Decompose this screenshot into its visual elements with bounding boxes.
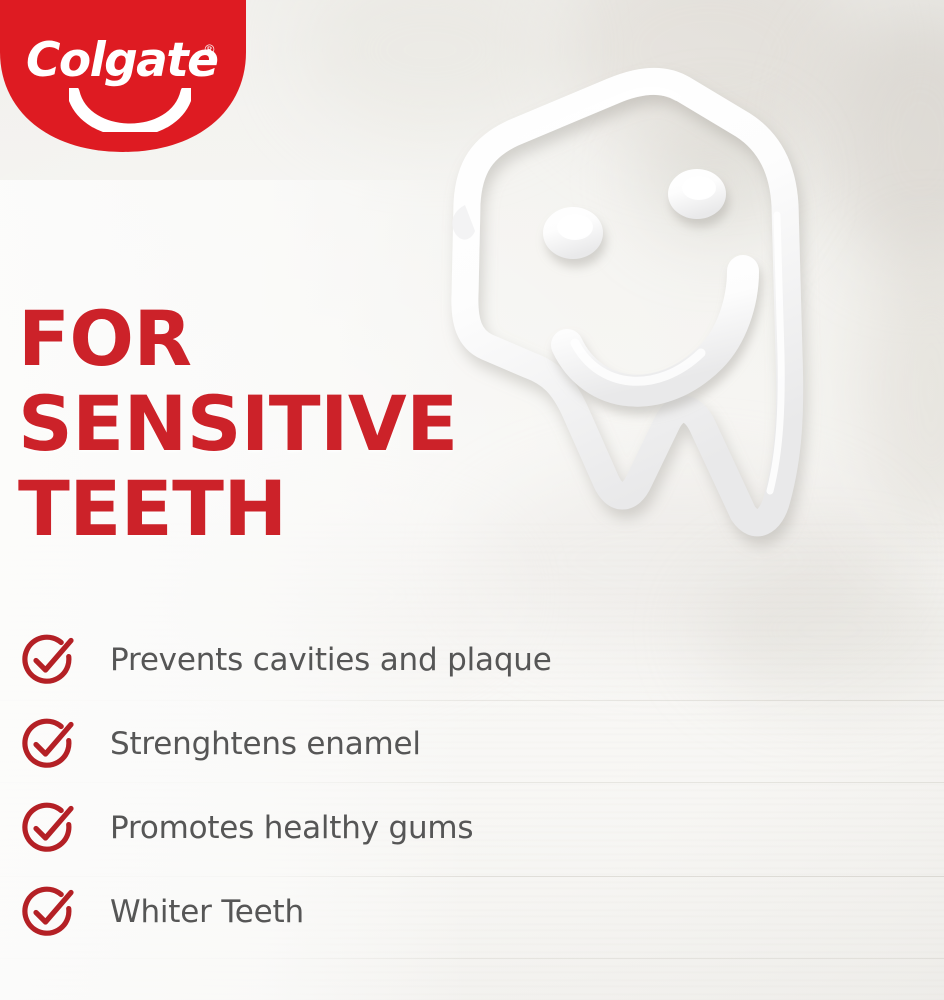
benefit-label: Promotes healthy gums xyxy=(110,811,672,845)
headline-line-2: SENSITIVE xyxy=(18,381,488,466)
benefit-label: Strenghtens enamel xyxy=(110,727,672,761)
headline-line-3: TEETH xyxy=(18,466,488,551)
benefits-list: Prevents cavities and plaque Strenghtens… xyxy=(12,618,672,954)
registered-trademark-icon: ® xyxy=(203,44,216,57)
circle-check-icon xyxy=(18,798,78,858)
circle-check-icon xyxy=(18,630,78,690)
circle-check-icon xyxy=(18,882,78,942)
benefit-label: Prevents cavities and plaque xyxy=(110,643,672,677)
list-item: Whiter Teeth xyxy=(12,870,672,954)
background-plank-seam xyxy=(0,958,944,959)
headline-line-1: FOR xyxy=(18,296,488,381)
colgate-logo-badge[interactable]: Colgate ® xyxy=(0,0,246,152)
list-item: Strenghtens enamel xyxy=(12,702,672,786)
colgate-wordmark: Colgate xyxy=(26,37,217,84)
headline: FOR SENSITIVE TEETH xyxy=(18,296,488,551)
list-item: Promotes healthy gums xyxy=(12,786,672,870)
benefit-label: Whiter Teeth xyxy=(110,895,672,929)
smile-arc-icon xyxy=(69,88,191,132)
toothpaste-tooth-smiley-icon xyxy=(425,55,895,575)
list-item: Prevents cavities and plaque xyxy=(12,618,672,702)
tooth-smile-icon xyxy=(567,271,743,391)
circle-check-icon xyxy=(18,714,78,774)
colgate-sensitive-teeth-banner: Colgate ® FOR SENSITIVE TEETH Prevents c… xyxy=(0,0,944,1000)
